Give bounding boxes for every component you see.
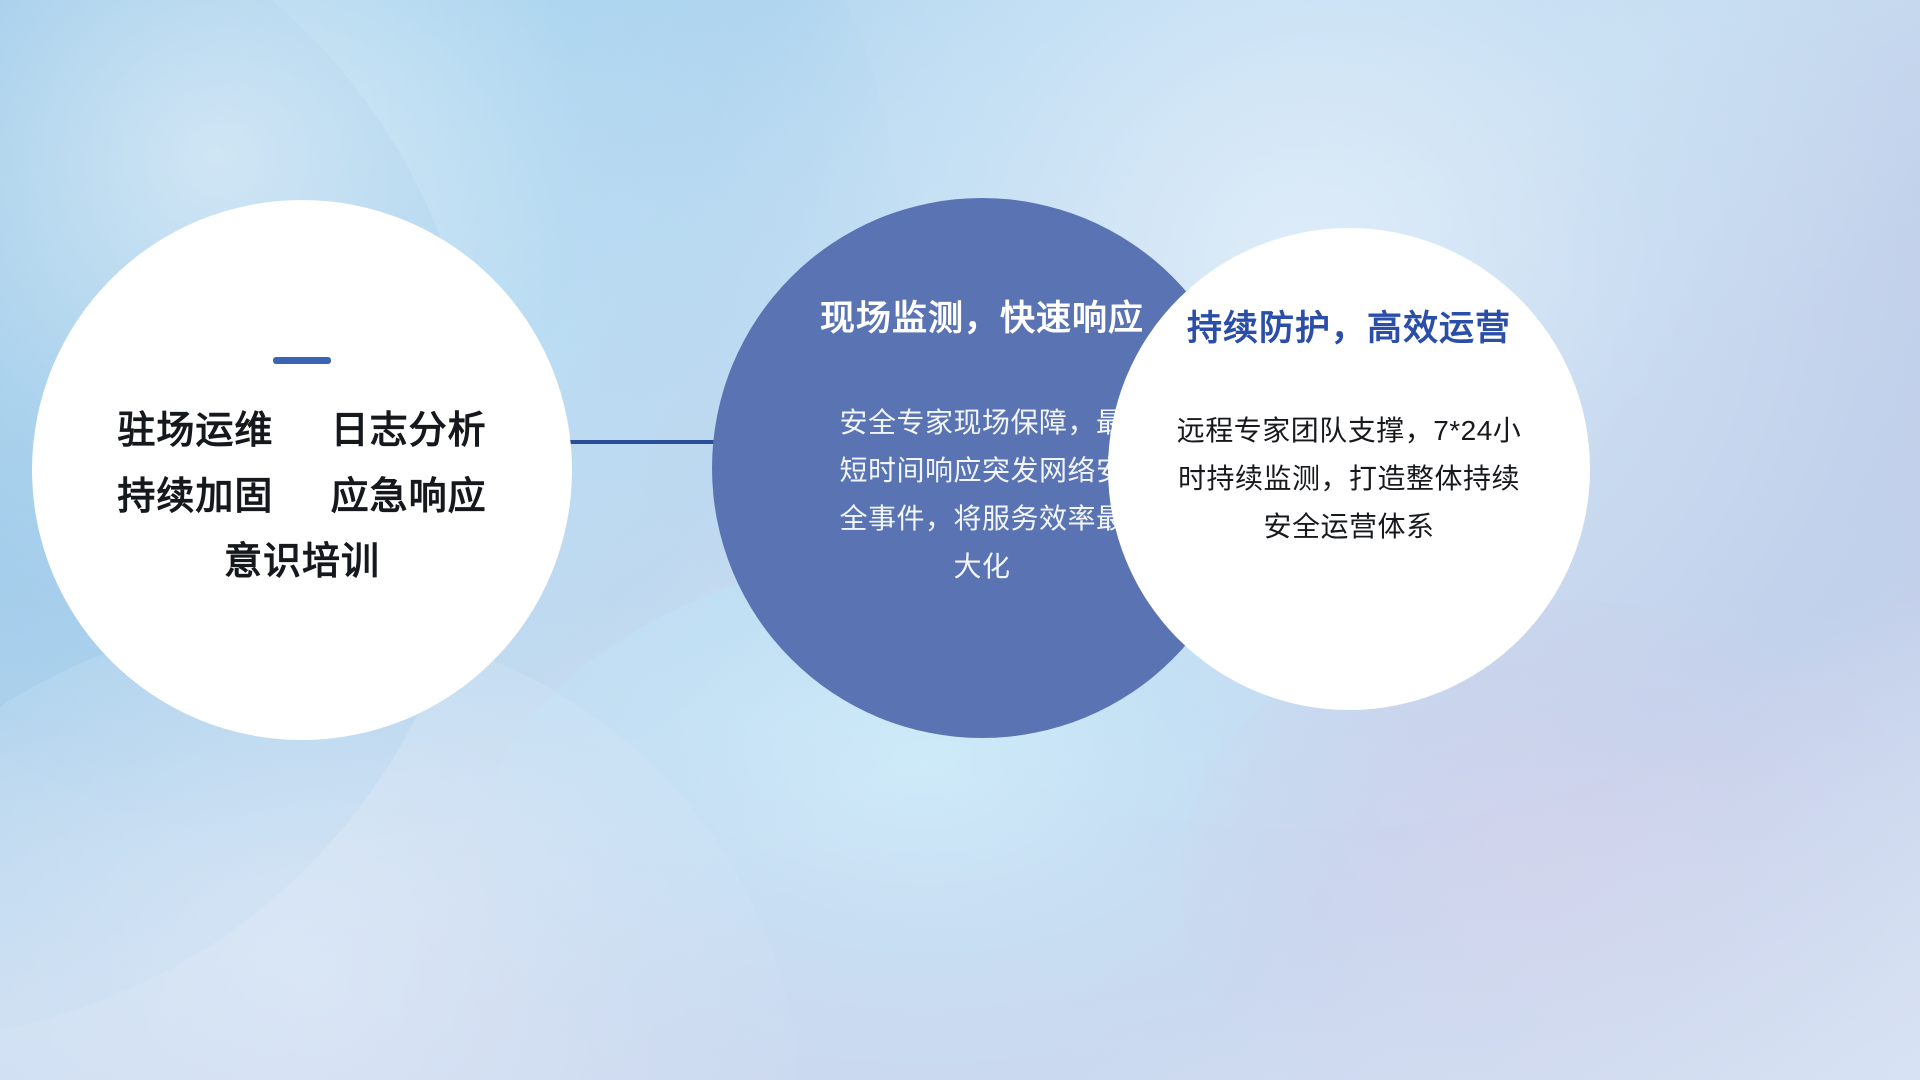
continuous-protection-circle[interactable]: 持续防护，高效运营 远程专家团队支撑，7*24小时持续监测，打造整体持续安全运营… — [1108, 228, 1590, 710]
capability-label: 意识培训 — [224, 541, 380, 583]
protection-heading: 持续防护，高效运营 — [1187, 300, 1511, 351]
capability-label: 持续加固 — [117, 476, 273, 518]
accent-dash — [273, 357, 331, 364]
capability-list: 驻场运维 日志分析 持续加固 应急响应 意识培训 — [117, 412, 486, 584]
capability-label: 驻场运维 — [117, 410, 273, 452]
capabilities-circle[interactable]: 驻场运维 日志分析 持续加固 应急响应 意识培训 — [32, 200, 572, 740]
capability-label: 应急响应 — [331, 476, 487, 518]
capability-row-1: 驻场运维 日志分析 — [117, 412, 486, 452]
capability-row-3: 意识培训 — [224, 543, 380, 583]
protection-body: 远程专家团队支撑，7*24小时持续监测，打造整体持续安全运营体系 — [1164, 407, 1534, 551]
onsite-body: 安全专家现场保障，最短时间响应突发网络安全事件，将服务效率最大化 — [827, 399, 1137, 592]
onsite-heading: 现场监测，快速响应 — [820, 290, 1144, 341]
capability-row-2: 持续加固 应急响应 — [117, 478, 486, 518]
capability-label: 日志分析 — [331, 410, 487, 452]
slide-canvas: 驻场运维 日志分析 持续加固 应急响应 意识培训 现场监测，快速响应 安全专家现… — [0, 0, 1920, 1080]
